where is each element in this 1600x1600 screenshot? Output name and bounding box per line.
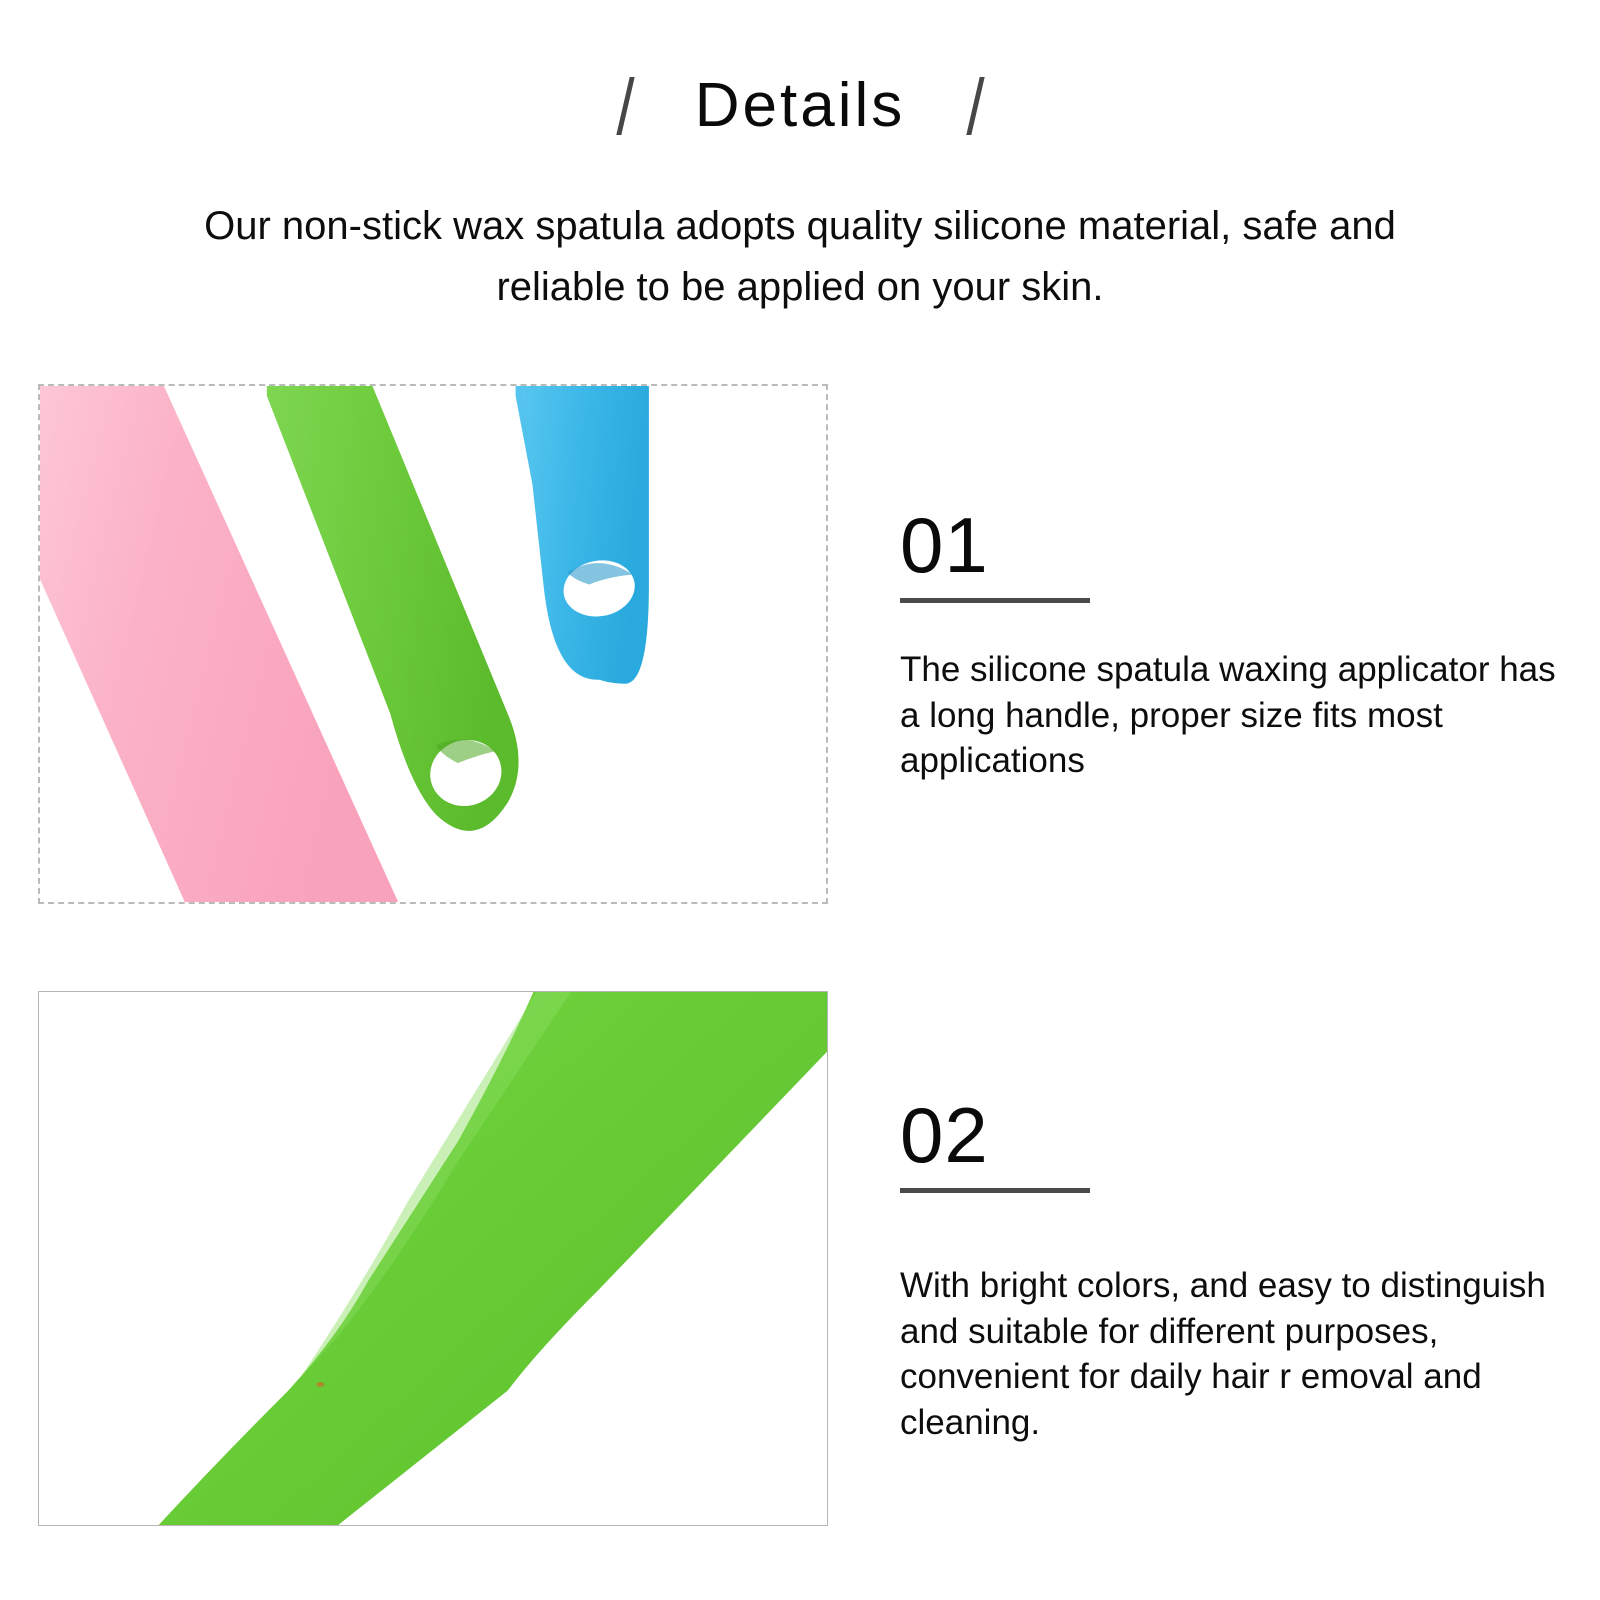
feature-number-02: 02 bbox=[900, 1098, 1560, 1172]
feature-rule-02 bbox=[900, 1188, 1090, 1193]
feature-block-01: 01 The silicone spatula waxing applicato… bbox=[900, 508, 1560, 784]
page-title: Details bbox=[695, 75, 906, 137]
feature-rule-01 bbox=[900, 598, 1090, 603]
feature-body-01: The silicone spatula waxing applicator h… bbox=[900, 647, 1560, 784]
feature-block-02: 02 With bright colors, and easy to disti… bbox=[900, 1098, 1560, 1445]
green-spatula-blade-photo bbox=[38, 991, 828, 1526]
blade-surface-speck bbox=[316, 1382, 324, 1387]
three-spatula-handles-photo bbox=[38, 384, 828, 904]
feature-number-01: 01 bbox=[900, 508, 1560, 582]
title-right-slash-icon bbox=[961, 75, 989, 137]
feature-body-02: With bright colors, and easy to distingu… bbox=[900, 1263, 1560, 1445]
page-header: Details bbox=[0, 60, 1600, 152]
title-left-slash-icon bbox=[611, 75, 639, 137]
page-subtitle: Our non-stick wax spatula adopts quality… bbox=[170, 196, 1430, 318]
green-spatula-blade-illustration bbox=[39, 992, 827, 1525]
three-spatula-handles-illustration bbox=[40, 386, 826, 902]
